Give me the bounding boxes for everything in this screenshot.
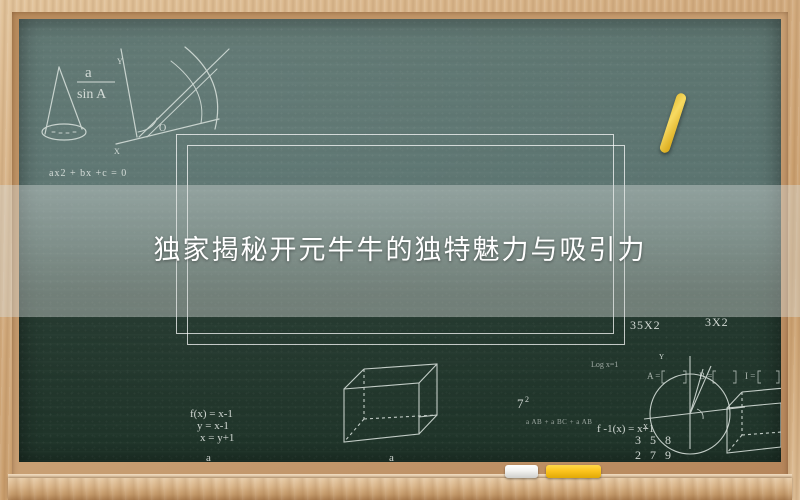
chalk-angle-o: O: [159, 123, 166, 134]
chalk-arith-row2: 2 7 9: [635, 448, 674, 462]
chalk-fx-line1: f(x) = x-1: [190, 408, 233, 420]
chalk-ledge: [8, 478, 792, 500]
chalk-series-note: a AB + a BC + a AB: [526, 418, 592, 426]
chalk-matrix-i: I =: [745, 371, 755, 381]
yellow-chalk: [546, 465, 601, 478]
chalk-axis-y-top: Y: [117, 57, 123, 66]
chalk-seven-exp: 2: [525, 395, 529, 404]
chalk-arith-row1: 3 5 8: [635, 433, 674, 447]
chalk-sinA-top: sin A: [77, 87, 107, 102]
chalk-seven: 7: [517, 396, 524, 411]
chalk-axis-y-br: Y: [659, 353, 664, 361]
screenshot-root: a sin A Y X O ax2 + bx +c = 0 f(x) = x-1…: [0, 0, 800, 500]
chalk-a-bl2: a: [389, 452, 394, 462]
banner-title: 独家揭秘开元牛牛的独特魅力与吸引力: [0, 228, 800, 267]
chalk-a-top: a: [85, 65, 92, 81]
chalk-axis-x-br: X: [643, 423, 648, 431]
chalk-inverse-fn: f -1(x) = x+1: [597, 423, 654, 435]
chalk-fx-line2: y = x-1: [197, 420, 229, 432]
chalk-fx-line3: x = y+1: [200, 432, 234, 444]
white-chalk: [505, 465, 538, 478]
chalk-eight-exp: 2: [271, 461, 275, 462]
chalk-a-bl: a: [206, 452, 211, 462]
chalk-axis-x-top: X: [114, 147, 120, 156]
chalk-log-note-br: Log x=1: [591, 360, 618, 369]
chalk-matrix-b: B =: [699, 371, 712, 381]
chalk-matrix-label-right: 3X2: [705, 315, 729, 329]
chalk-quadratic: ax2 + bx +c = 0: [49, 168, 127, 179]
chalk-matrix-a: A =: [647, 371, 660, 381]
chalk-matrix-label-left: 35X2: [630, 318, 661, 332]
